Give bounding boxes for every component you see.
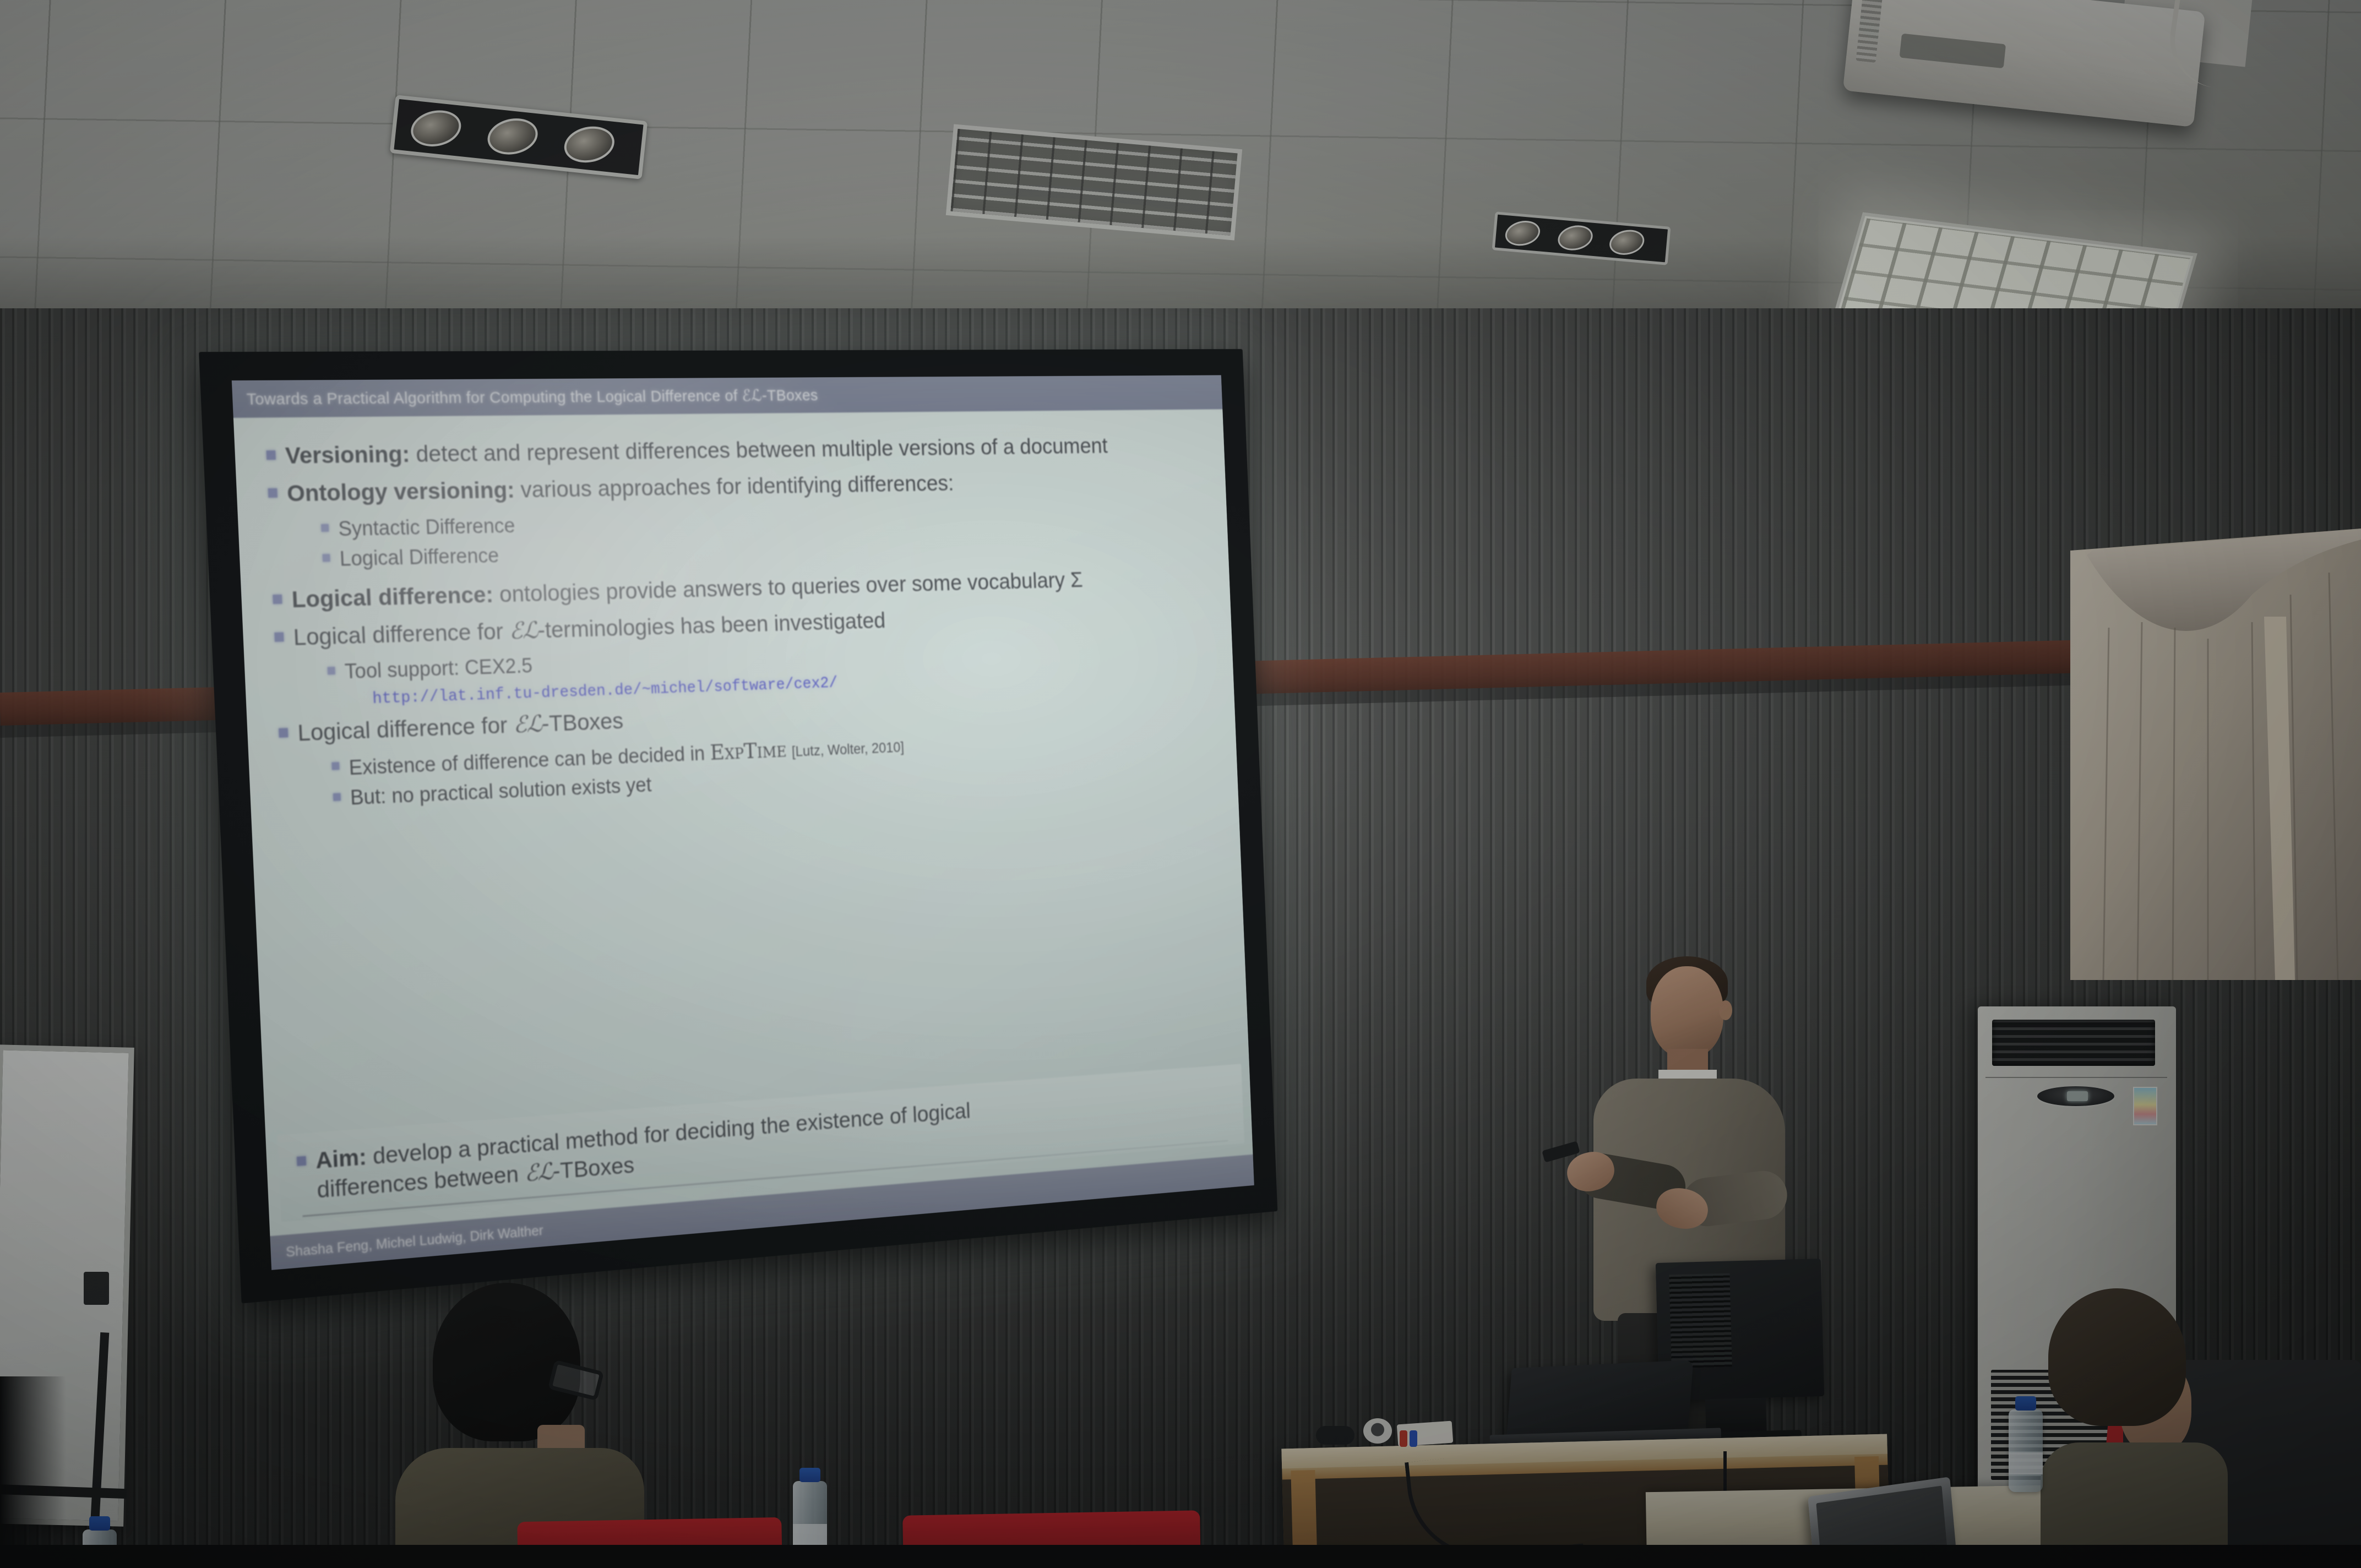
bullet-pre: Logical difference for [293,618,510,651]
slide-subbullet-text: Syntactic Difference [338,513,516,542]
spotlight-lamp [1555,222,1595,253]
el-symbol: ℰℒ [509,617,538,645]
bullet-rest: detect and represent differences between… [409,433,1108,467]
slide-subbullet-text: Logical Difference [339,543,499,573]
bullet-marker-icon [268,488,278,498]
slide-bullet-ontology-versioning: Ontology versioning: various approaches … [268,466,1206,509]
spotlight-lamp [407,106,464,151]
ac-energy-label-sticker [2133,1087,2157,1125]
bullet-post: -terminologies has been investigated [537,608,886,643]
ac-top-grille-icon [1992,1020,2155,1066]
tape-roll-icon [1363,1418,1392,1444]
slide-citation: [Lutz, Wolter, 2010] [791,739,904,760]
foreground-shadow-left [0,1376,66,1568]
aim-lead: Aim: [315,1144,367,1174]
bottle-cap [2015,1396,2036,1411]
bullet-lead: Logical difference: [291,581,494,613]
window-curtain-icon [2070,529,2361,980]
el-symbol: ℰℒ [524,1158,553,1187]
water-bottle [2009,1409,2043,1492]
presenter-head [1651,966,1723,1058]
whiteboard-clip [84,1272,109,1305]
slide-bullet-text: Versioning: detect and represent differe… [285,433,1108,471]
slide-subbullet-text: Tool support: CEX2.5 [344,654,533,685]
spotlight-lamp [484,114,541,159]
slide-title: Towards a Practical Algorithm for Comput… [246,386,818,409]
desk-small-items [1316,1416,1459,1448]
bullet-marker-icon [273,595,282,604]
bullet-marker-icon [333,793,341,801]
bottle-label [2009,1452,2043,1474]
ac-panel-seam [1985,1077,2167,1078]
conference-room-scene: Towards a Practical Algorithm for Comput… [0,0,2361,1568]
bullet-rest: various approaches for identifying diffe… [514,471,955,503]
spotlight-lamp [1607,227,1647,258]
bottle-label [793,1524,827,1546]
bottle-cap [799,1468,820,1482]
bullet-marker-icon [331,762,339,770]
bullet-pre: Logical difference for [297,712,514,746]
projection-screen: Towards a Practical Algorithm for Comput… [199,349,1277,1303]
projector-lens-icon [1900,34,2006,69]
slide-bullet-text: Logical difference for ℰℒ-TBoxes [297,707,624,748]
bullet-marker-icon [279,728,288,738]
bullet-post: -TBoxes [541,708,624,737]
ac-control-panel[interactable] [2037,1086,2114,1106]
bullet-marker-icon [328,667,335,675]
monitor-vent-grille [1669,1273,1732,1368]
aim-rest: develop a practical method for deciding … [366,1098,971,1170]
slide-body: Versioning: detect and represent differe… [233,409,1253,1236]
spotlight-lamp [1503,217,1542,249]
slide-bullet-versioning: Versioning: detect and represent differe… [266,432,1205,471]
marker-pen-red [1400,1430,1407,1447]
screen-surface: Towards a Practical Algorithm for Comput… [232,375,1254,1270]
bullet-marker-icon [274,633,284,642]
computer-mouse-icon[interactable] [1316,1426,1354,1445]
el-symbol: ℰℒ [513,710,542,738]
bullet-rest: ontologies provide answers to queries ov… [493,568,1083,608]
ac-display-led [2067,1091,2088,1101]
projector-vent [1856,0,1883,63]
foreground-dark-edge [0,1545,2361,1568]
bottle-cap [89,1516,110,1531]
attendee-hair [2048,1288,2186,1426]
bullet-lead: Ontology versioning: [286,477,515,507]
marker-pen-blue [1410,1430,1417,1447]
exptime-label: ExpTime [710,738,787,765]
presenter-ear [1719,1000,1732,1020]
bullet-marker-icon [266,450,276,460]
bullet-marker-icon [297,1156,306,1166]
spotlight-lamp [561,122,618,167]
presentation-slide: Towards a Practical Algorithm for Comput… [232,375,1254,1270]
aim-line2-post: -TBoxes [552,1152,635,1184]
bullet-lead: Versioning: [285,441,410,469]
slide-bullet-text: Ontology versioning: various approaches … [286,470,954,508]
bullet-marker-icon [323,554,330,562]
bullet-marker-icon [321,524,329,531]
